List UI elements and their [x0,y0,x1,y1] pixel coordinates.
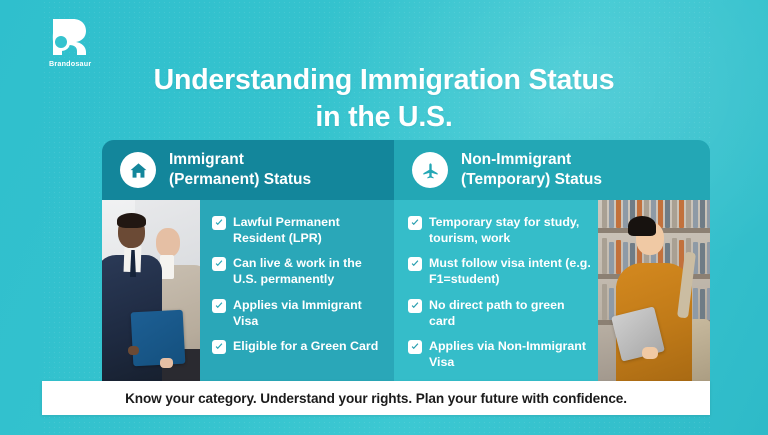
panel-non-immigrant-body: Temporary stay for study, tourism, work … [394,200,710,381]
bullet-item: Can live & work in the U.S. permanently [212,255,386,287]
bullet-item: Applies via Non-Immigrant Visa [408,338,592,370]
bullet-text: Lawful Permanent Resident (LPR) [233,214,386,246]
brandosaur-b-logo-icon [47,17,91,57]
bullet-item: Eligible for a Green Card [212,338,386,354]
bullet-item: Applies via Immigrant Visa [212,297,386,329]
panel-immigrant: Immigrant (Permanent) Status [102,140,394,381]
checkbox-icon [212,299,226,313]
home-icon [120,152,156,188]
heading-line-1: Non-Immigrant [461,150,602,170]
checkbox-icon [408,299,422,313]
bullet-item: No direct path to green card [408,297,592,329]
bullet-item: Lawful Permanent Resident (LPR) [212,214,386,246]
bullet-text: No direct path to green card [429,297,592,329]
heading-line-2: (Temporary) Status [461,170,602,190]
panel-immigrant-bullets: Lawful Permanent Resident (LPR) Can live… [200,200,394,381]
checkbox-icon [212,257,226,271]
title-line-2: in the U.S. [104,99,664,136]
bullet-text: Temporary stay for study, tourism, work [429,214,592,246]
panel-immigrant-header: Immigrant (Permanent) Status [102,140,394,200]
brand-logo: Brandosaur [47,17,107,69]
heading-line-1: Immigrant [169,150,311,170]
footer-banner: Know your category. Understand your righ… [42,381,710,415]
bullet-text: Applies via Non-Immigrant Visa [429,338,592,370]
footer-text: Know your category. Understand your righ… [125,391,627,406]
panel-non-immigrant: Non-Immigrant (Temporary) Status [394,140,710,381]
airplane-icon [412,152,448,188]
bullet-text: Can live & work in the U.S. permanently [233,255,386,287]
student-in-library-photo [598,200,710,381]
panel-immigrant-heading: Immigrant (Permanent) Status [169,150,311,190]
heading-line-2: (Permanent) Status [169,170,311,190]
panel-non-immigrant-heading: Non-Immigrant (Temporary) Status [461,150,602,190]
bullet-text: Eligible for a Green Card [233,338,378,354]
brand-name: Brandosaur [47,59,107,68]
professional-couple-photo [102,200,200,381]
title-line-1: Understanding Immigration Status [104,62,664,99]
bullet-text: Applies via Immigrant Visa [233,297,386,329]
panel-non-immigrant-bullets: Temporary stay for study, tourism, work … [394,200,598,381]
infographic-canvas: Brandosaur Understanding Immigration Sta… [0,0,768,435]
bullet-item: Temporary stay for study, tourism, work [408,214,592,246]
page-title: Understanding Immigration Status in the … [104,62,664,136]
bullet-item: Must follow visa intent (e.g. F1=student… [408,255,592,287]
checkbox-icon [408,216,422,230]
checkbox-icon [212,216,226,230]
comparison-panels: Immigrant (Permanent) Status [102,140,710,381]
panel-non-immigrant-header: Non-Immigrant (Temporary) Status [394,140,710,200]
checkbox-icon [408,257,422,271]
checkbox-icon [212,340,226,354]
checkbox-icon [408,340,422,354]
panel-immigrant-body: Lawful Permanent Resident (LPR) Can live… [102,200,394,381]
bullet-text: Must follow visa intent (e.g. F1=student… [429,255,592,287]
